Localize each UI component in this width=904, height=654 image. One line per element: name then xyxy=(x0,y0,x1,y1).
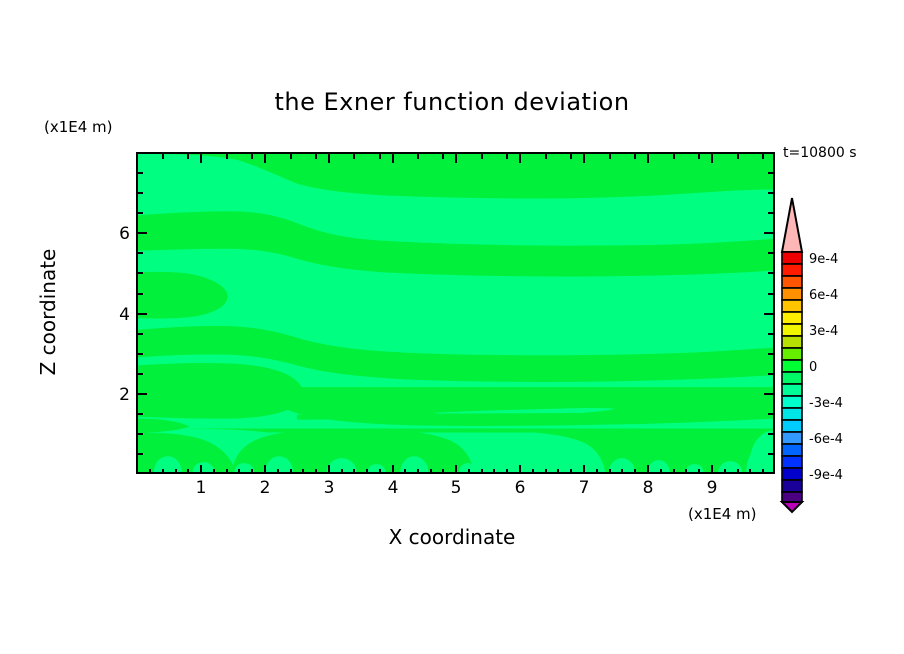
y-tick-major-right xyxy=(764,232,773,234)
x-tick-minor-top xyxy=(226,154,228,159)
x-tick-minor-top xyxy=(506,154,508,159)
y-axis-title: Z coordinate xyxy=(36,212,60,412)
x-tick-minor xyxy=(187,469,189,474)
colorbar[interactable]: 9e-4 6e-4 3e-4 0 -3e-4 -6e-4 -9e-4 xyxy=(779,196,805,514)
x-tick-major xyxy=(455,465,457,474)
x-tick-minor xyxy=(673,469,675,474)
x-tick-label: 1 xyxy=(181,478,221,498)
colorbar-tick-label: 0 xyxy=(809,360,817,375)
y-tick-minor xyxy=(138,333,143,335)
y-tick-label: 6 xyxy=(96,224,130,244)
x-tick-minor xyxy=(481,469,483,474)
x-tick-minor xyxy=(213,469,215,474)
x-tick-major xyxy=(392,465,394,474)
colorbar-tick-label: -3e-4 xyxy=(809,396,843,411)
x-tick-minor xyxy=(417,469,419,474)
y-tick-label: 2 xyxy=(96,385,130,405)
colorbar-tick-label: 6e-4 xyxy=(809,288,838,303)
x-tick-minor xyxy=(506,469,508,474)
x-tick-label: 8 xyxy=(628,478,668,498)
y-axis-unit-label: (x1E4 m) xyxy=(44,118,113,136)
y-tick-major xyxy=(138,313,147,315)
x-tick-label: 4 xyxy=(373,478,413,498)
x-tick-minor xyxy=(685,469,687,474)
x-tick-minor xyxy=(698,469,700,474)
colorbar-tick-label: -6e-4 xyxy=(809,432,843,447)
colorbar-tick-label: 9e-4 xyxy=(809,252,838,267)
colorbar-underflow-arrow xyxy=(782,502,802,512)
x-tick-minor-top xyxy=(570,154,572,159)
x-tick-minor xyxy=(251,469,253,474)
x-tick-minor xyxy=(341,469,343,474)
x-tick-minor-top xyxy=(634,154,636,159)
y-tick-minor-right xyxy=(768,272,773,274)
y-tick-major-right xyxy=(764,313,773,315)
x-tick-minor xyxy=(762,469,764,474)
x-tick-minor-top xyxy=(251,154,253,159)
x-tick-minor xyxy=(430,469,432,474)
y-tick-minor xyxy=(138,373,143,375)
x-tick-major xyxy=(519,465,521,474)
colorbar-tick-label: 3e-4 xyxy=(809,324,838,339)
y-tick-major xyxy=(138,232,147,234)
x-axis-title: X coordinate xyxy=(0,525,904,549)
x-tick-minor xyxy=(277,469,279,474)
page-title: the Exner function deviation xyxy=(0,88,904,116)
y-tick-minor xyxy=(138,212,143,214)
x-tick-minor-top xyxy=(762,154,764,159)
y-tick-major xyxy=(138,393,147,395)
x-tick-label: 6 xyxy=(500,478,540,498)
x-tick-major-top xyxy=(711,154,713,163)
y-tick-minor-right xyxy=(768,413,773,415)
x-tick-minor-top xyxy=(481,154,483,159)
x-tick-minor-top xyxy=(442,154,444,159)
x-tick-minor xyxy=(353,469,355,474)
x-tick-label: 3 xyxy=(309,478,349,498)
figure-root: the Exner function deviation (x1E4 m) t=… xyxy=(0,0,904,654)
x-tick-minor xyxy=(238,469,240,474)
y-tick-minor xyxy=(138,453,143,455)
x-tick-major-top xyxy=(328,154,330,163)
x-tick-minor xyxy=(596,469,598,474)
x-tick-minor-top xyxy=(162,154,164,159)
x-tick-major-top xyxy=(392,154,394,163)
y-tick-minor-right xyxy=(768,293,773,295)
colorbar-tick-label: -9e-4 xyxy=(809,468,843,483)
x-tick-label: 5 xyxy=(436,478,476,498)
x-tick-minor-top xyxy=(417,154,419,159)
y-tick-minor xyxy=(138,353,143,355)
x-tick-label: 7 xyxy=(564,478,604,498)
x-tick-minor-top xyxy=(673,154,675,159)
x-tick-minor xyxy=(379,469,381,474)
x-tick-minor-top xyxy=(737,154,739,159)
y-tick-minor-right xyxy=(768,172,773,174)
y-tick-minor-right xyxy=(768,373,773,375)
x-tick-major-top xyxy=(455,154,457,163)
colorbar-swatches xyxy=(779,196,805,514)
x-tick-major-top xyxy=(264,154,266,163)
x-tick-minor xyxy=(724,469,726,474)
x-tick-minor xyxy=(315,469,317,474)
x-tick-label: 9 xyxy=(692,478,732,498)
contour-field xyxy=(138,154,773,472)
x-axis-unit-label: (x1E4 m) xyxy=(688,505,757,523)
x-tick-minor xyxy=(404,469,406,474)
x-tick-minor-top xyxy=(379,154,381,159)
x-tick-minor xyxy=(493,469,495,474)
x-tick-minor xyxy=(609,469,611,474)
x-tick-minor xyxy=(634,469,636,474)
x-tick-minor xyxy=(545,469,547,474)
y-tick-minor-right xyxy=(768,433,773,435)
x-tick-major-top xyxy=(647,154,649,163)
x-tick-minor xyxy=(302,469,304,474)
x-tick-minor xyxy=(532,469,534,474)
y-tick-minor xyxy=(138,172,143,174)
x-tick-minor-top xyxy=(698,154,700,159)
y-tick-minor-right xyxy=(768,453,773,455)
x-tick-major xyxy=(711,465,713,474)
x-tick-minor-top xyxy=(315,154,317,159)
x-tick-minor xyxy=(226,469,228,474)
x-tick-minor xyxy=(570,469,572,474)
x-tick-minor xyxy=(737,469,739,474)
x-tick-major xyxy=(328,465,330,474)
x-tick-major xyxy=(583,465,585,474)
y-tick-minor xyxy=(138,272,143,274)
colorbar-overflow-arrow xyxy=(782,198,802,252)
x-tick-major-top xyxy=(200,154,202,163)
x-tick-label: 2 xyxy=(245,478,285,498)
y-tick-major-right xyxy=(764,393,773,395)
x-tick-minor-top xyxy=(353,154,355,159)
y-tick-minor-right xyxy=(768,192,773,194)
y-tick-minor xyxy=(138,252,143,254)
y-tick-minor-right xyxy=(768,212,773,214)
contour-plot-area[interactable] xyxy=(136,152,775,474)
x-tick-minor xyxy=(660,469,662,474)
x-tick-major xyxy=(647,465,649,474)
x-tick-major-top xyxy=(519,154,521,163)
x-tick-major xyxy=(200,465,202,474)
x-tick-minor xyxy=(468,469,470,474)
x-tick-minor xyxy=(290,469,292,474)
x-tick-minor xyxy=(749,469,751,474)
x-tick-minor-top xyxy=(545,154,547,159)
x-tick-minor xyxy=(442,469,444,474)
y-tick-minor-right xyxy=(768,333,773,335)
x-tick-minor xyxy=(175,469,177,474)
y-tick-minor xyxy=(138,413,143,415)
x-tick-minor xyxy=(149,469,151,474)
x-tick-minor xyxy=(366,469,368,474)
x-tick-minor-top xyxy=(290,154,292,159)
x-tick-minor xyxy=(621,469,623,474)
y-tick-minor xyxy=(138,433,143,435)
y-tick-minor xyxy=(138,293,143,295)
x-tick-major-top xyxy=(583,154,585,163)
x-tick-minor xyxy=(557,469,559,474)
y-tick-minor-right xyxy=(768,353,773,355)
x-tick-major xyxy=(264,465,266,474)
x-tick-minor-top xyxy=(609,154,611,159)
y-tick-minor xyxy=(138,192,143,194)
time-annotation: t=10800 s xyxy=(783,145,857,161)
x-tick-minor xyxy=(162,469,164,474)
y-tick-label: 4 xyxy=(96,305,130,325)
x-tick-minor-top xyxy=(187,154,189,159)
y-tick-minor-right xyxy=(768,252,773,254)
